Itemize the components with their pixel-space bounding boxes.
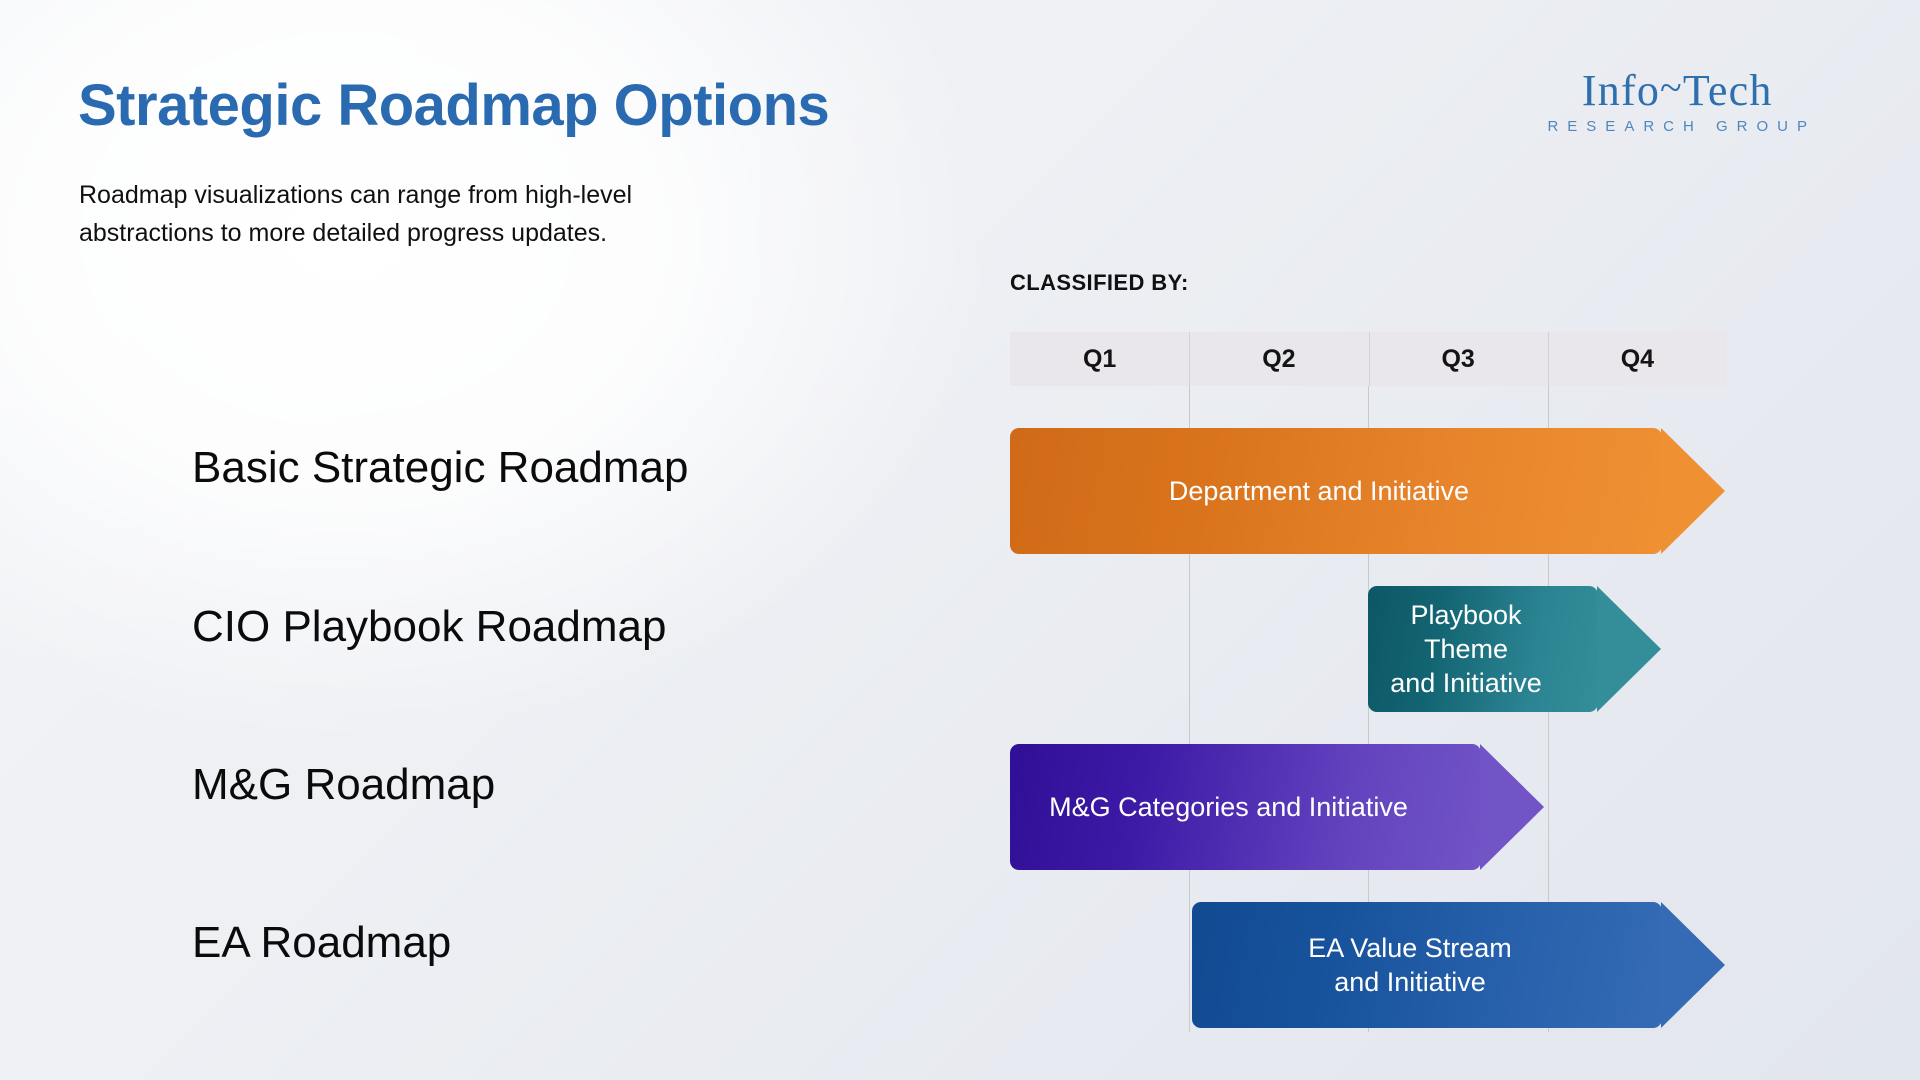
arrow-label-playbook-theme-and-initiative: Playbook Themeand Initiative	[1368, 598, 1598, 700]
bar-row-mg-roadmap[interactable]: M&G Categories and Initiative	[1010, 744, 1481, 870]
logo-wordmark: Info~Tech	[1538, 68, 1816, 115]
arrow-label-department-and-initiative: Department and Initiative	[1159, 474, 1513, 508]
arrow-label-line-2: and Initiative	[1334, 967, 1486, 997]
arrow-mg-categories-and-initiative[interactable]: M&G Categories and Initiative	[1010, 744, 1481, 870]
row-label-ea-roadmap: EA Roadmap	[192, 918, 451, 968]
arrow-playbook-theme-and-initiative[interactable]: Playbook Themeand Initiative	[1368, 586, 1598, 712]
quarter-header-q2: Q2	[1189, 332, 1368, 386]
arrow-label-line-2: and Initiative	[1390, 668, 1542, 698]
logo-word-info: Info	[1582, 66, 1660, 115]
bar-row-cio-playbook-roadmap[interactable]: Playbook Themeand Initiative	[1368, 586, 1598, 712]
quarter-header-q1: Q1	[1010, 332, 1189, 386]
roadmap-chart: Q1 Q2 Q3 Q4 Department and Initiative Pl…	[1010, 332, 1727, 1032]
row-label-basic-strategic-roadmap: Basic Strategic Roadmap	[192, 443, 688, 493]
arrow-label-mg-categories-and-initiative: M&G Categories and Initiative	[1039, 790, 1452, 824]
roadmap-bars: Department and Initiative Playbook Theme…	[1010, 386, 1727, 1032]
arrow-label-line-1: Playbook Theme	[1410, 600, 1521, 664]
row-label-cio-playbook-roadmap: CIO Playbook Roadmap	[192, 602, 666, 652]
arrow-label-line-1: EA Value Stream	[1308, 933, 1512, 963]
logo-word-tech: Tech	[1683, 66, 1773, 115]
logo-tagline: RESEARCH GROUP	[1538, 118, 1816, 135]
slide-canvas: Strategic Roadmap Options Roadmap visual…	[0, 0, 1920, 1080]
arrow-department-and-initiative[interactable]: Department and Initiative	[1010, 428, 1662, 554]
logo-tilde: ~	[1660, 65, 1683, 110]
roadmap-row-label-list: Basic Strategic Roadmap CIO Playbook Roa…	[0, 0, 1010, 1080]
quarter-header-row: Q1 Q2 Q3 Q4	[1010, 332, 1727, 386]
quarter-header-q3: Q3	[1369, 332, 1548, 386]
bar-row-basic-strategic-roadmap[interactable]: Department and Initiative	[1010, 428, 1662, 554]
quarter-header-q4: Q4	[1548, 332, 1727, 386]
info-tech-logo: Info~Tech RESEARCH GROUP	[1538, 68, 1816, 135]
arrow-ea-value-stream-and-initiative[interactable]: EA Value Streamand Initiative	[1192, 902, 1662, 1028]
bar-row-ea-roadmap[interactable]: EA Value Streamand Initiative	[1192, 902, 1662, 1028]
arrow-label-ea-value-stream-and-initiative: EA Value Streamand Initiative	[1298, 931, 1556, 999]
row-label-mg-roadmap: M&G Roadmap	[192, 760, 495, 810]
classified-by-label: CLASSIFIED BY:	[1010, 270, 1189, 296]
